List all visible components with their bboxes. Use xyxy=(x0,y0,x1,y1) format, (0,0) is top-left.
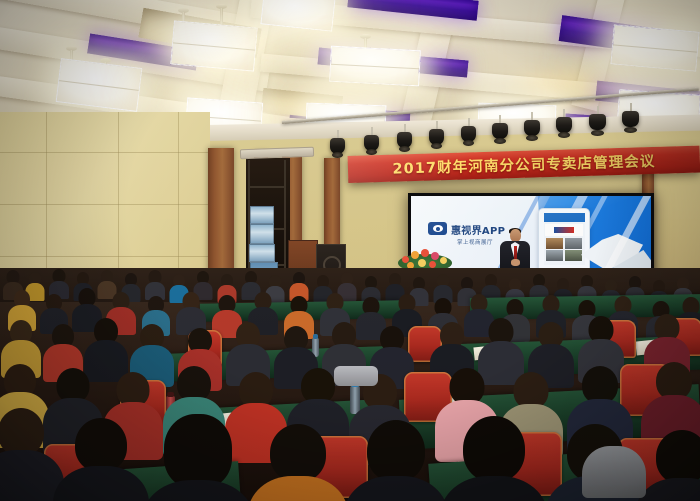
audience-member-foreground xyxy=(352,420,440,501)
audience-member xyxy=(178,292,204,330)
audience-member xyxy=(50,269,68,295)
par-can-stage-light xyxy=(461,118,476,144)
ceiling-panel-light xyxy=(170,20,258,71)
audience-member-foreground xyxy=(642,430,700,501)
flower-petal xyxy=(440,257,447,264)
coat-on-chairback xyxy=(582,446,646,498)
huishijie-eye-logo xyxy=(428,222,447,235)
par-can-stage-light xyxy=(429,121,444,147)
par-can-stage-light xyxy=(622,103,639,131)
audience-member-foreground xyxy=(256,424,340,501)
flower-petal xyxy=(429,261,436,268)
tablet-app-header xyxy=(544,213,585,222)
tablet-mockup xyxy=(538,208,590,274)
audience-member xyxy=(230,322,266,378)
audience-member-foreground xyxy=(448,416,540,501)
par-can-stage-light xyxy=(492,115,508,142)
par-can-stage-light xyxy=(556,109,572,136)
stacked-cartons xyxy=(250,224,274,244)
tablet-screen xyxy=(544,213,585,264)
flower-petal xyxy=(411,251,419,259)
stacked-cartons xyxy=(250,206,274,224)
conference-hall-photo: 2017财年河南分公司专卖店管理会议 惠视界APP 掌上视商展厅 xyxy=(0,0,700,501)
tablet-hero-banner xyxy=(545,224,583,236)
flower-petal xyxy=(431,252,439,260)
par-can-stage-light xyxy=(330,130,345,156)
audience-member-foreground xyxy=(62,418,140,501)
audience-member xyxy=(434,274,452,300)
flower-petal xyxy=(418,259,426,267)
tablet-thumb xyxy=(546,250,563,261)
par-can-stage-light xyxy=(397,124,412,150)
stacked-cartons xyxy=(249,244,275,262)
presenter-hands xyxy=(511,259,520,266)
par-can-stage-light xyxy=(524,112,540,139)
banner-text: 2017财年河南分公司专卖店管理会议 xyxy=(392,150,656,179)
screen-brand-subtext: 掌上视商展厅 xyxy=(457,238,493,246)
audience-member-foreground xyxy=(0,408,56,501)
presenter-tie xyxy=(514,246,517,260)
scaffold-frame xyxy=(248,186,286,188)
flower-petal xyxy=(421,249,429,257)
audience-member xyxy=(146,270,164,296)
par-can-stage-light xyxy=(364,127,379,153)
audience-member xyxy=(290,272,308,298)
audience-member-foreground xyxy=(150,414,246,501)
tablet-thumb xyxy=(546,238,563,249)
ceiling-panel-light xyxy=(329,46,421,87)
audience-member xyxy=(88,318,124,374)
tablet-thumb xyxy=(565,250,582,261)
ceiling-panel-light xyxy=(610,24,699,71)
folded-coat xyxy=(334,366,378,386)
tablet-thumb xyxy=(565,238,582,249)
par-can-stage-light xyxy=(589,106,606,134)
pendant-rod xyxy=(220,8,223,24)
audience-seating-area xyxy=(0,268,700,501)
